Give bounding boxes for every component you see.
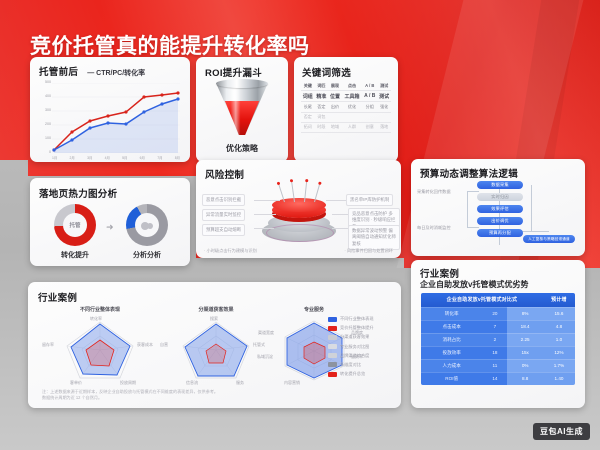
radar-axis-label: 内容营销 <box>284 380 300 386</box>
x-tick: 6月 <box>140 155 145 160</box>
line-chart-y-axis: 500 400 300 200 100 0 <box>35 81 51 155</box>
cell: 人力成本 <box>421 359 482 372</box>
legend-item: 转化提升总览 <box>328 371 374 377</box>
legend-label: 分渠道获客效果 <box>340 334 369 340</box>
x-tick: 2月 <box>70 155 75 160</box>
risk-label-right-3: 数据异常波动预警 偏离阈值自动通知优化师复核 <box>348 225 400 250</box>
legend-item: 分渠道获客效果 <box>328 334 374 340</box>
legend-label: 不同行业整体表现 <box>340 316 374 322</box>
line-chart-header: 托管前后 — CTR/PC/转化率 <box>39 64 145 78</box>
radar-axis-label: 客单价 <box>70 380 82 386</box>
table-row: ROI值 14 8.8 1.40 <box>421 372 575 385</box>
legend-label: 品牌渠道综合度 <box>340 353 369 359</box>
risk-title: 风险控制 <box>205 167 244 181</box>
cell: 拓词 <box>301 122 315 132</box>
cell: 否定 <box>301 112 315 122</box>
risk-graphic: 恶意点击识别拦截 异常流量实时监控 预算超支自动熔断 黑名单IP库防护机制 竞品… <box>196 180 401 258</box>
cell: 12% <box>543 346 575 359</box>
legend-item: 不同行业整体表现 <box>328 316 374 322</box>
table-row: 转化率 20 8% 15.6 <box>421 307 575 320</box>
arrow-icon: ➜ <box>106 222 114 233</box>
legend-swatch <box>328 362 337 367</box>
radar-caption-1: 不同行业整体表现 <box>42 306 158 313</box>
x-tick: 1月 <box>52 155 57 160</box>
legend-swatch <box>328 344 337 349</box>
donut-chart-analysis <box>126 204 168 246</box>
legend-swatch <box>328 326 337 331</box>
legend-swatch <box>328 353 337 358</box>
table-row: 词组 精准 位置 工具箱 A / B 测试 <box>301 91 391 102</box>
risk-foot-right: · 风险事件归因与处置闭环 <box>344 248 393 254</box>
flow-side-label-2: 每日及时消耗监控 <box>417 225 451 231</box>
table-row: 消耗占比 2 2.25 1.0 <box>421 333 575 346</box>
line-chart-x-axis: 1月 2月 3月 4月 5月 6月 7月 8月 <box>52 155 180 160</box>
cell: 测试 <box>377 81 391 91</box>
disc-top-face <box>272 198 326 212</box>
table-row: 否定 词包 <box>301 112 391 122</box>
card-heatmap-analysis: 落地页热力图分析 托管 ➜ 转化提升 分析分析 <box>30 178 190 266</box>
cell: 1.40 <box>543 372 575 385</box>
cloud-icon <box>141 222 153 229</box>
cell: 投放效率 <box>421 346 482 359</box>
cell: 1.0 <box>543 333 575 346</box>
y-tick: 200 <box>45 123 51 127</box>
industry-table-subtitle: 企业自助发放v托管模式优劣势 <box>420 279 528 290</box>
table-row: 拓词 时段 地域 人群 创意 落地 <box>301 122 391 132</box>
flow-node-1[interactable]: 数据采集 <box>477 181 523 189</box>
risk-label-left-3: 预算超支自动熔断 <box>202 224 245 236</box>
keyword-title: 关键词筛选 <box>302 65 351 79</box>
radar-note: 注：上述数据来源于近期样本，反映企业自助投放与托管模式在不同维度的表现差异，仅供… <box>42 389 218 402</box>
x-tick: 7月 <box>157 155 162 160</box>
legend-label: 专业服务对比图 <box>340 344 369 350</box>
funnel-graphic <box>196 79 288 141</box>
cell: 测试 <box>377 91 391 102</box>
industry-comparison-table: 企业自助发放v托管模式对比式 预计增 转化率 20 8% 15.6 点击成本 7… <box>421 293 575 385</box>
y-tick: 500 <box>45 81 51 85</box>
cell: 点击 <box>342 81 362 91</box>
legend-label: 竞价托管整体提升 <box>340 325 374 331</box>
cell: 地域 <box>328 122 342 132</box>
card-industry-table: 行业案例 企业自助发放v托管模式优劣势 企业自助发放v托管模式对比式 预计增 转… <box>411 260 585 408</box>
table-row: 长尾 否定 出价 优化 分组 强化 <box>301 102 391 112</box>
legend-swatch <box>328 372 337 377</box>
cell: 2 <box>482 333 507 346</box>
cell <box>328 112 342 122</box>
cell <box>342 112 362 122</box>
card-risk-control: 风险控制 恶意点击识别拦截 异常流量实时监控 预算超支自动熔断 黑名单IP库防护… <box>196 160 401 258</box>
cell: 出价 <box>328 102 342 112</box>
radar-chart-1: 不同行业整体表现 转化率 获客成本 投放周期 客单价 留存率 <box>42 306 158 388</box>
cell: 7 <box>482 320 507 333</box>
cell: ROI值 <box>421 372 482 385</box>
cell: A / B <box>362 81 377 91</box>
cell: 词组 <box>301 91 315 102</box>
radar-axis-label: 投放周期 <box>120 380 136 386</box>
legend-label: 转化提升总览 <box>340 371 365 377</box>
cell: 消耗占比 <box>421 333 482 346</box>
flow-connector <box>531 185 532 231</box>
flow-node-3[interactable]: 效果评估 <box>477 205 523 213</box>
card-roi-funnel: ROI提升漏斗 优化策略 <box>196 57 288 162</box>
x-tick: 4月 <box>105 155 110 160</box>
radar-svg-2 <box>176 316 256 382</box>
risk-label-left-2: 异常流量实时监控 <box>202 209 245 221</box>
risk-dot-icon <box>289 179 293 183</box>
keyword-table: 关键 词匹 展现 点击 A / B 测试 词组 精准 位置 工具箱 A / B … <box>301 81 391 133</box>
cell: 词包 <box>315 112 329 122</box>
cell: 4.8 <box>543 320 575 333</box>
funnel-rim <box>216 79 268 88</box>
cell: 点击成本 <box>421 320 482 333</box>
x-tick: 8月 <box>175 155 180 160</box>
risk-label-right-3-text: 数据异常波动预警 偏离阈值自动通知优化师复核 <box>352 228 396 246</box>
flow-node-4[interactable]: 出价调优 <box>477 217 523 225</box>
legend-item: 品牌渠道综合度 <box>328 353 374 359</box>
table-row: 人力成本 11 0% 1.7% <box>421 359 575 372</box>
x-tick: 3月 <box>87 155 92 160</box>
cell: 转化率 <box>421 307 482 320</box>
page-title: 竞价托管真的能提升转化率吗 <box>30 30 310 60</box>
funnel-caption: 优化策略 <box>196 143 288 154</box>
cell: 2.25 <box>507 333 543 346</box>
budget-title: 预算动态调整算法逻辑 <box>420 166 518 180</box>
funnel-gloss <box>216 83 268 135</box>
x-tick: 5月 <box>122 155 127 160</box>
radar-axis-label: 留存率 <box>42 342 54 348</box>
risk-dot-icon <box>305 179 309 183</box>
table-row: 关键 词匹 展现 点击 A / B 测试 <box>301 81 391 91</box>
y-tick: 0 <box>49 151 51 155</box>
cell <box>362 112 377 122</box>
cell: 强化 <box>377 102 391 112</box>
radar-axis-label: 服务 <box>236 380 244 386</box>
radar-note-line-2: 数据统计周期为近 12 个自然月。 <box>42 395 218 402</box>
cell: 18.4 <box>507 320 543 333</box>
cell: 时段 <box>315 122 329 132</box>
watermark: 豆包AI生成 <box>533 423 590 440</box>
cell: A / B <box>362 91 377 102</box>
table-row: 投放效率 18 15x 12% <box>421 346 575 359</box>
cell: 20 <box>482 307 507 320</box>
cell: 15x <box>507 346 543 359</box>
legend-label: 多维度对比 <box>340 362 361 368</box>
poster-canvas: 竞价托管真的能提升转化率吗 托管前后 — CTR/PC/转化率 500 400 … <box>0 0 600 450</box>
risk-dot-icon <box>276 182 280 186</box>
line-chart-plot <box>52 83 180 153</box>
leader-line <box>254 200 280 201</box>
y-tick: 100 <box>45 137 51 141</box>
cell: 否定 <box>315 102 329 112</box>
radar-caption-3: 专业服务 <box>256 306 372 313</box>
cell: 工具箱 <box>342 91 362 102</box>
cell: 14 <box>482 372 507 385</box>
line-chart-title: 托管前后 <box>39 64 78 78</box>
radar-axis-label: 转化率 <box>90 316 102 322</box>
cell: 11 <box>482 359 507 372</box>
flow-connector <box>467 191 479 192</box>
cell: 位置 <box>328 91 342 102</box>
radar-axis-label: 自营 <box>160 342 168 348</box>
radar-svg-1 <box>60 316 140 382</box>
card-line-chart: 托管前后 — CTR/PC/转化率 500 400 300 200 100 0 <box>30 57 190 162</box>
y-tick: 400 <box>45 95 51 99</box>
y-tick: 300 <box>45 109 51 113</box>
legend-swatch <box>328 335 337 340</box>
card-budget-algorithm: 预算动态调整算法逻辑 数据采集 实时归因 效果评估 出价调优 预算再分配 人工复… <box>411 159 585 256</box>
table-row: 点击成本 7 18.4 4.8 <box>421 320 575 333</box>
table-header-row: 企业自助发放v托管模式对比式 预计增 <box>421 293 575 307</box>
radar-axis-label: 渠道宽度 <box>258 330 274 336</box>
radar-axis-label: 获客成本 <box>137 342 153 348</box>
cell: 长尾 <box>301 102 315 112</box>
risk-foot-left: · 小时级点击行为建模与识别 <box>204 248 257 254</box>
funnel-title: ROI提升漏斗 <box>205 65 262 79</box>
legend-item: 竞价托管整体提升 <box>328 325 374 331</box>
flow-connector <box>519 231 549 232</box>
cell: 分组 <box>362 102 377 112</box>
flow-side-label-1: 采集转化回传数据 <box>417 189 451 195</box>
line-chart-legend: — CTR/PC/转化率 <box>87 68 145 78</box>
cell: 关键 <box>301 81 315 91</box>
risk-dot-icon <box>317 181 321 185</box>
donut-chart-conversion: 托管 <box>54 204 96 246</box>
header-cell: 预计增 <box>543 293 575 307</box>
cell: 0% <box>507 359 543 372</box>
cell: 18 <box>482 346 507 359</box>
radar-axis-label: 搜索 <box>210 316 218 322</box>
donut-center-label: 托管 <box>69 221 80 229</box>
donut-hole <box>135 213 159 237</box>
radar-axis-label: 信息流 <box>186 380 198 386</box>
donut-caption-b: 分析分析 <box>117 250 177 260</box>
card-keyword-filter: 关键词筛选 关键 词匹 展现 点击 A / B 测试 词组 精准 位置 工具箱 … <box>294 57 398 162</box>
cell: 创意 <box>362 122 377 132</box>
radar-card-title: 行业案例 <box>38 290 77 304</box>
industry-table-title: 行业案例 <box>420 266 459 280</box>
leader-line <box>254 228 274 229</box>
risk-label-right-1: 黑名单IP库防护机制 <box>346 194 393 206</box>
flow-node-5[interactable]: 预算再分配 <box>477 229 523 237</box>
flow-node-side[interactable]: 人工复核与策略回滚通道 <box>523 235 575 243</box>
radar-legend: 不同行业整体表现 竞价托管整体提升 分渠道获客效果 专业服务对比图 品牌渠道综合… <box>328 316 374 380</box>
flow-connector <box>467 227 479 228</box>
leader-line <box>326 200 348 201</box>
flow-connector <box>467 191 468 227</box>
budget-flowchart: 数据采集 实时归因 效果评估 出价调优 预算再分配 人工复核与策略回滚通道 采集… <box>411 179 585 253</box>
cell: 优化 <box>342 102 362 112</box>
radar-axis-label: 私域沉淀 <box>257 354 273 360</box>
risk-label-left-1: 恶意点击识别拦截 <box>202 194 245 206</box>
legend-swatch <box>328 317 337 322</box>
heatmap-title: 落地页热力图分析 <box>39 186 117 200</box>
cell: 人群 <box>342 122 362 132</box>
cell: 落地 <box>377 122 391 132</box>
cell: 1.7% <box>543 359 575 372</box>
cell: 精准 <box>315 91 329 102</box>
flow-connector <box>499 237 500 245</box>
leader-line <box>254 214 276 215</box>
cell: 词匹 <box>315 81 329 91</box>
header-cell: 企业自助发放v托管模式对比式 <box>421 293 543 307</box>
cell: 15.6 <box>543 307 575 320</box>
donut-hole: 托管 <box>63 213 87 237</box>
cell: 8% <box>507 307 543 320</box>
donut-caption-a: 转化提升 <box>45 250 105 260</box>
legend-item: 专业服务对比图 <box>328 344 374 350</box>
card-radar-charts: 行业案例 不同行业整体表现 转化率 获客成本 投放周期 客单价 留存率 分渠道获 <box>28 282 401 408</box>
legend-item: 多维度对比 <box>328 362 374 368</box>
cell <box>377 112 391 122</box>
disc-ring <box>266 224 334 242</box>
cell: 展现 <box>328 81 342 91</box>
flow-node-2[interactable]: 实时归因 <box>477 193 523 201</box>
cell: 8.8 <box>507 372 543 385</box>
